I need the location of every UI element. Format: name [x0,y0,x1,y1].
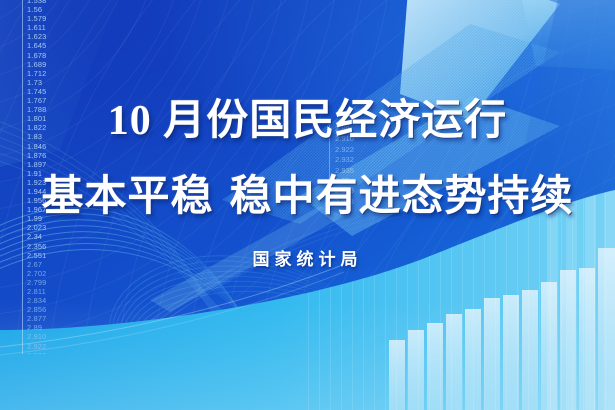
ticker-value: 2.811 [27,287,68,296]
ticker-value: 1.678 [27,51,68,60]
ticker-value: 1.767 [27,96,68,105]
ghost-number: 2.959 [335,186,389,196]
ticker-value: 1.745 [27,87,68,96]
ticker-value: 1.73 [27,78,68,87]
ticker-value: 2.856 [27,305,68,314]
ticker-value: 1.712 [27,69,68,78]
ticker-value: 2.799 [27,278,68,287]
ghost-number: 2.935 [335,166,389,176]
ticker-value: 2.922 [27,342,68,351]
ticker-value: 2.67 [27,260,68,269]
ticker-value: 2.023 [27,223,68,232]
ticker-value: 1.876 [27,151,68,160]
ticker-value: 1.579 [27,14,68,23]
ticker-value: 1.788 [27,105,68,114]
ticker-value: 2.932 [27,351,68,354]
bottom-light-wash [0,300,615,410]
ticker-column: 1.5381.561.5791.6111.6231.6451.6781.6891… [22,0,68,354]
ticker-value: 1.801 [27,114,68,123]
ghost-number-column: 2.892.9102.9222.9322.9352.952.9592.968 [329,124,389,207]
ghost-number: 2.89 [335,124,389,134]
ticker-value: 2.356 [27,242,68,251]
ghost-number: 2.968 [335,197,389,207]
ticker-value: 1.56 [27,5,68,14]
ticker-value: 2.702 [27,269,68,278]
ticker-value: 2.34 [27,232,68,241]
ticker-value: 1.956 [27,196,68,205]
bar-chart-decor [0,0,615,410]
ticker-value: 2.551 [27,251,68,260]
ghost-number: 2.932 [335,155,389,165]
ticker-value: 1.944 [27,187,68,196]
ghost-number: 2.922 [335,145,389,155]
ticker-value: 2.910 [27,332,68,341]
ticker-value: 1.846 [27,142,68,151]
ticker-value: 1.645 [27,41,68,50]
ticker-value: 1.611 [27,23,68,32]
ticker-value: 2.877 [27,314,68,323]
ticker-value: 1.83 [27,132,68,141]
poster-root: 1.5381.561.5791.6111.6231.6451.6781.6891… [0,0,615,410]
ghost-number: 2.95 [335,176,389,186]
ticker-value: 1.99 [27,214,68,223]
ticker-value: 2.834 [27,296,68,305]
ticker-value: 1.822 [27,123,68,132]
ticker-value: 1.91 [27,169,68,178]
ticker-value: 1.897 [27,160,68,169]
ticker-value: 1.689 [27,60,68,69]
ticker-value: 1.967 [27,205,68,214]
ticker-value: 1.923 [27,178,68,187]
ghost-number: 2.910 [335,134,389,144]
ticker-value: 1.623 [27,32,68,41]
ticker-value: 2.89 [27,323,68,332]
